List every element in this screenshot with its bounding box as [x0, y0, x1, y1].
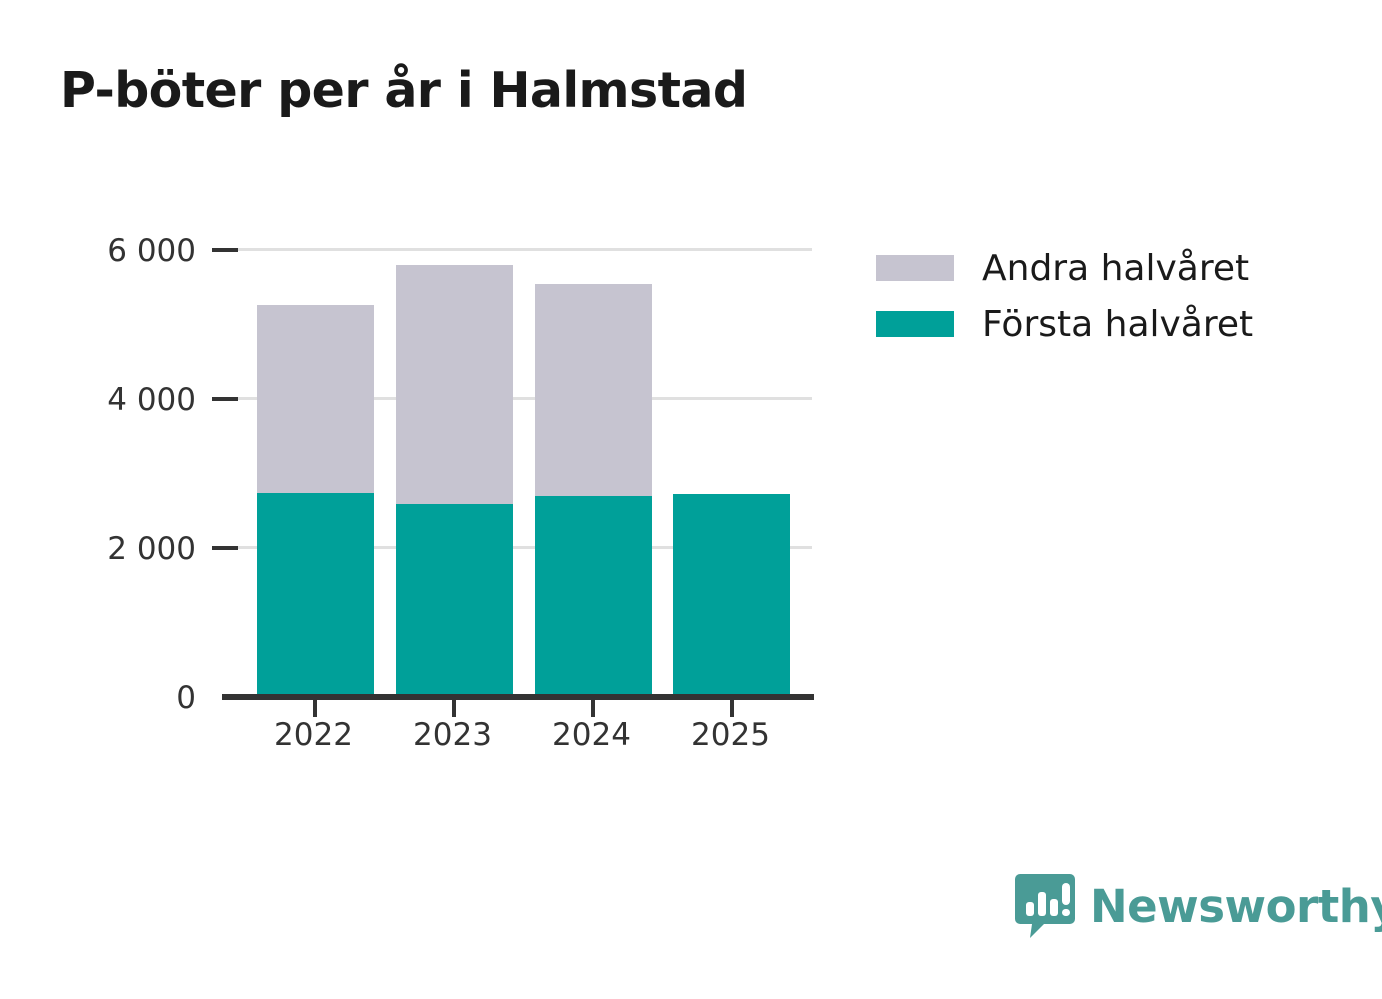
newsworthy-logo[interactable]: Newsworthy	[1014, 872, 1382, 940]
ytick-label-6000: 6 000	[107, 233, 196, 269]
bar-segment-2024-andra-halvaret[interactable]	[535, 284, 652, 496]
xtick-label-2024: 2024	[533, 717, 650, 753]
bar-segment-2022-forsta-halvaret[interactable]	[257, 493, 374, 696]
newsworthy-wordmark: Newsworthy	[1090, 880, 1382, 933]
ytick-label-0: 0	[176, 680, 196, 716]
xtick-mark-2025	[730, 699, 734, 717]
newsworthy-bar-chart-bubble-icon	[1014, 872, 1076, 940]
chart-legend: Andra halvåret Första halvåret	[876, 240, 1253, 352]
legend-swatch-forsta-halvaret-icon	[876, 311, 954, 337]
bar-segment-2023-andra-halvaret[interactable]	[396, 265, 513, 504]
bar-segment-2022-andra-halvaret[interactable]	[257, 305, 374, 493]
ytick-label-4000: 4 000	[107, 382, 196, 418]
xtick-label-2023: 2023	[394, 717, 511, 753]
ytick-dash-2000	[212, 546, 238, 550]
xtick-mark-2024	[591, 699, 595, 717]
chart-plot-area: 6 000 4 000 2 000 0 2022 2023 2024 2025	[0, 0, 1382, 999]
legend-swatch-andra-halvaret-icon	[876, 255, 954, 281]
xtick-label-2025: 2025	[672, 717, 789, 753]
gridline-6000	[232, 248, 812, 251]
xtick-mark-2023	[452, 699, 456, 717]
xtick-mark-2022	[313, 699, 317, 717]
ytick-dash-6000	[212, 248, 238, 252]
legend-item-forsta-halvaret[interactable]: Första halvåret	[876, 296, 1253, 352]
bar-segment-2025-forsta-halvaret[interactable]	[673, 494, 790, 696]
legend-item-andra-halvaret[interactable]: Andra halvåret	[876, 240, 1253, 296]
bar-segment-2023-forsta-halvaret[interactable]	[396, 504, 513, 696]
bar-segment-2024-forsta-halvaret[interactable]	[535, 496, 652, 696]
xtick-label-2022: 2022	[255, 717, 372, 753]
legend-label-andra-halvaret: Andra halvåret	[982, 248, 1249, 289]
legend-label-forsta-halvaret: Första halvåret	[982, 304, 1253, 345]
x-axis-line	[222, 694, 814, 700]
ytick-dash-4000	[212, 397, 238, 401]
ytick-label-2000: 2 000	[107, 531, 196, 567]
